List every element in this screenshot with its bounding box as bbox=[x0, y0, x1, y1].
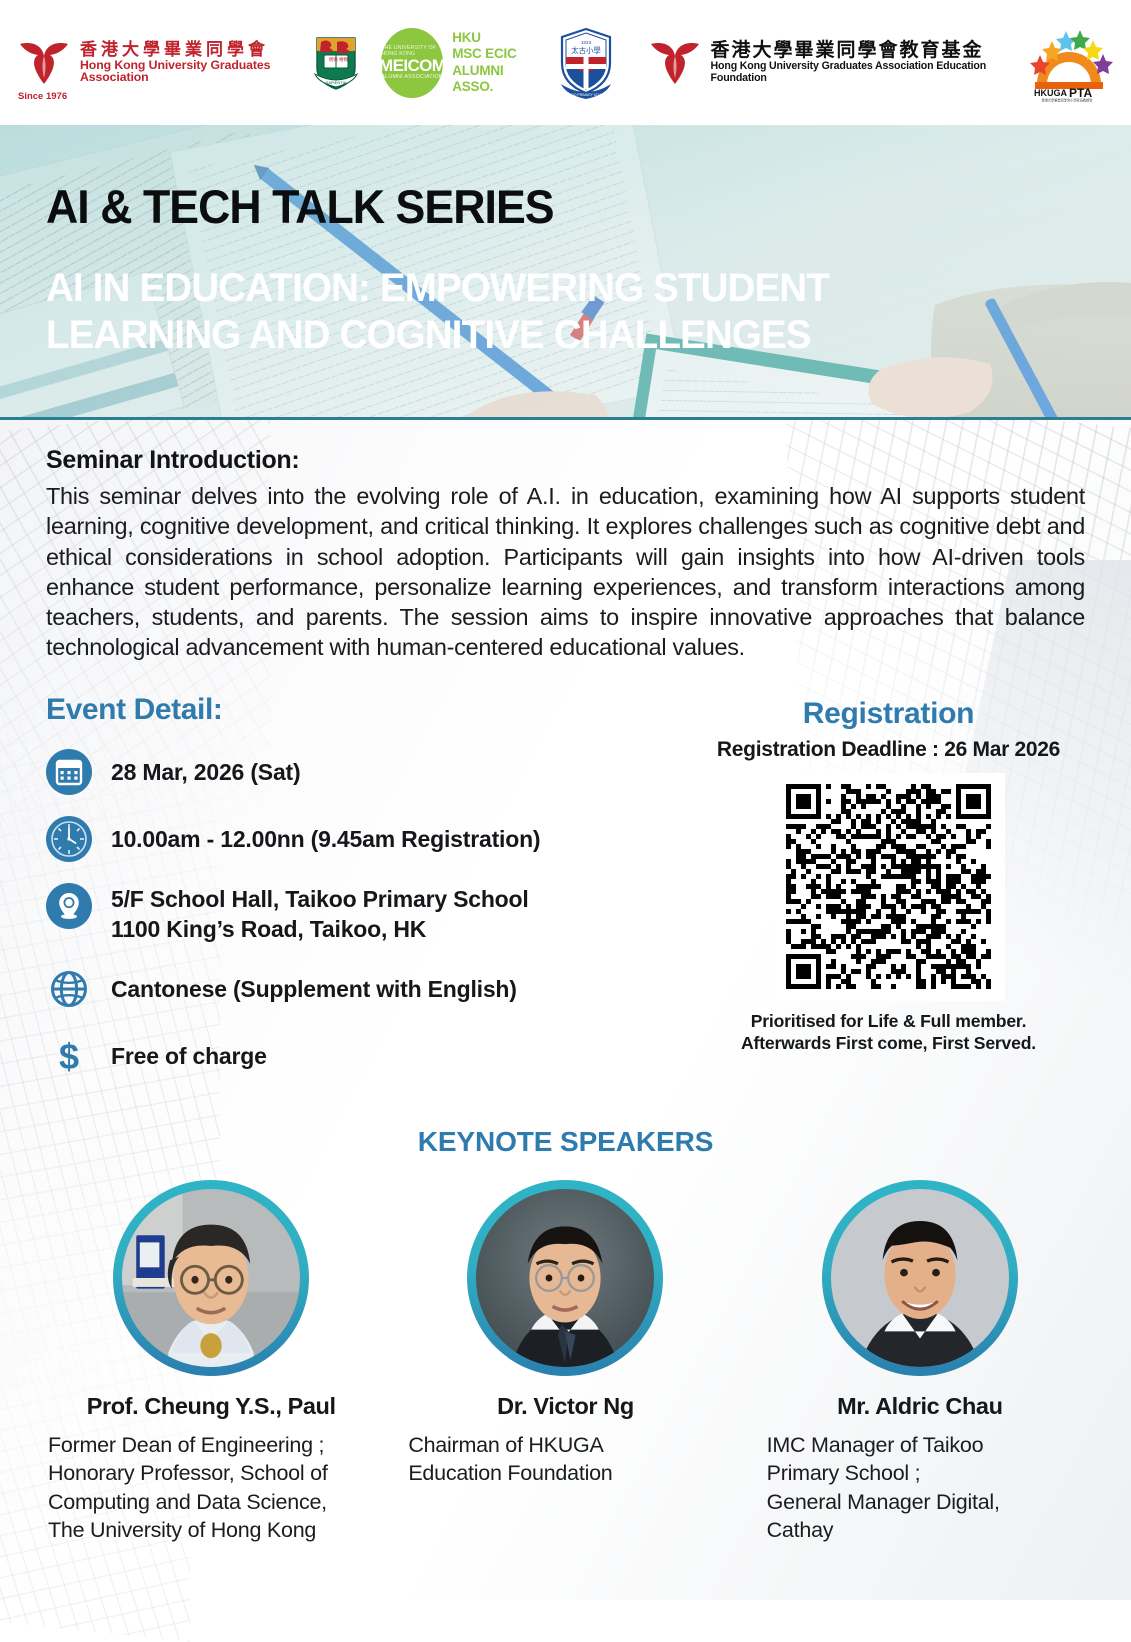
svg-text:格物: 格物 bbox=[339, 56, 348, 63]
speaker-name: Mr. Aldric Chau bbox=[757, 1393, 1083, 1420]
avatar bbox=[467, 1180, 663, 1376]
registration-note-line-2: Afterwards First come, First Served. bbox=[686, 1032, 1091, 1054]
event-venue-line-1: 5/F School Hall, Taikoo Primary School bbox=[111, 886, 529, 912]
keynote-speakers-list: Prof. Cheung Y.S., Paul Former Dean of E… bbox=[0, 1180, 1131, 1545]
meicom-circle-mark: THE UNIVERSITY OF HONG KONG MEICOM ALUMN… bbox=[381, 28, 443, 98]
hku-crest-icon: 明德 格物 SAPIENTIA bbox=[313, 34, 359, 92]
event-fee-text: Free of charge bbox=[111, 1033, 267, 1072]
seminar-introduction-title: Seminar Introduction: bbox=[46, 446, 1085, 475]
svg-text:明德: 明德 bbox=[329, 56, 338, 63]
clock-icon bbox=[46, 816, 92, 862]
location-pin-icon bbox=[46, 883, 92, 929]
event-detail-list: 28 Mar, 2026 (Sat) bbox=[46, 749, 686, 1079]
meicom-circle-top: THE UNIVERSITY OF HONG KONG bbox=[381, 45, 443, 57]
speaker-role: Former Dean of Engineering ;Honorary Pro… bbox=[48, 1431, 374, 1545]
pta-mark-sub: 香港大學畢業同學會小學家長教師會 bbox=[1041, 97, 1093, 102]
event-detail-row-language: Cantonese (Supplement with English) bbox=[46, 966, 686, 1012]
registration-note-line-1: Prioritised for Life & Full member. bbox=[686, 1010, 1091, 1032]
event-language-text: Cantonese (Supplement with English) bbox=[111, 966, 517, 1005]
speaker-card: Mr. Aldric Chau IMC Manager of TaikooPri… bbox=[743, 1180, 1097, 1545]
hku-crest-logo: 明德 格物 SAPIENTIA bbox=[313, 34, 359, 92]
qr-code-canvas[interactable] bbox=[773, 773, 1005, 1001]
svg-text:1923: 1923 bbox=[580, 40, 591, 45]
registration-heading: Registration bbox=[686, 697, 1091, 731]
hero-subtitle-line-2: LEARNING AND COGNITIVE CHALLENGES bbox=[46, 312, 1049, 359]
hkugaef-name-en: Hong Kong University Graduates Associati… bbox=[711, 61, 995, 84]
speaker-name: Prof. Cheung Y.S., Paul bbox=[48, 1393, 374, 1420]
hero-subtitle: AI IN EDUCATION: EMPOWERING STUDENT LEAR… bbox=[46, 265, 1049, 359]
dollar-icon: $ bbox=[46, 1033, 92, 1079]
hkuga-name-cn: 香港大學畢業同學會 bbox=[80, 41, 301, 59]
hero-series-title: AI & TECH TALK SERIES bbox=[46, 179, 554, 234]
calendar-icon bbox=[46, 749, 92, 795]
partner-logo-bar: Since 1976 香港大學畢業同學會 Hong Kong Universit… bbox=[0, 0, 1131, 125]
seminar-introduction-section: Seminar Introduction: This seminar delve… bbox=[0, 420, 1131, 663]
event-time-text: 10.00am - 12.00nn (9.45am Registration) bbox=[111, 816, 540, 855]
event-venue-text: 5/F School Hall, Taikoo Primary School 1… bbox=[111, 883, 529, 945]
speaker-role: IMC Manager of TaikooPrimary School ;Gen… bbox=[757, 1431, 1083, 1545]
hkuga-wing-icon: Since 1976 bbox=[18, 40, 70, 86]
hero-banner: AI & TECH TALK SERIES AI IN EDUCATION: E… bbox=[0, 125, 1131, 420]
speaker-photo-3 bbox=[831, 1189, 1009, 1367]
pta-mark-hkuga: HKUGA bbox=[1034, 88, 1067, 98]
event-detail-heading: Event Detail: bbox=[46, 693, 686, 727]
event-detail-row-venue: 5/F School Hall, Taikoo Primary School 1… bbox=[46, 883, 686, 945]
avatar bbox=[113, 1180, 309, 1376]
registration-qr-code[interactable] bbox=[773, 773, 1005, 1001]
hkugaef-name-cn: 香港大學畢業同學會教育基金 bbox=[711, 40, 995, 61]
hkuga-education-foundation-logo: 香港大學畢業同學會教育基金 Hong Kong University Gradu… bbox=[649, 40, 995, 86]
hkuga-since-label: Since 1976 bbox=[18, 91, 67, 102]
seminar-introduction-body: This seminar delves into the evolving ro… bbox=[46, 481, 1085, 663]
speaker-photo-1 bbox=[122, 1189, 300, 1367]
event-date-text: 28 Mar, 2026 (Sat) bbox=[111, 749, 300, 788]
svg-text:$: $ bbox=[59, 1036, 79, 1077]
event-detail-row-time: 10.00am - 12.00nn (9.45am Registration) bbox=[46, 816, 686, 862]
tps-ribbon-text: TAIKOO PRIMARY SCHOOL bbox=[564, 93, 608, 97]
meicom-line-3: ALUMNI ASSO. bbox=[452, 63, 526, 96]
hkugaef-wing-icon bbox=[649, 40, 701, 86]
registration-deadline: Registration Deadline : 26 Mar 2026 bbox=[686, 738, 1091, 762]
poster-content: Seminar Introduction: This seminar delve… bbox=[0, 420, 1131, 1545]
meicom-logo: THE UNIVERSITY OF HONG KONG MEICOM ALUMN… bbox=[381, 28, 526, 98]
speaker-photo-2 bbox=[476, 1189, 654, 1367]
speaker-card: Prof. Cheung Y.S., Paul Former Dean of E… bbox=[34, 1180, 388, 1545]
meicom-line-1: HKU bbox=[452, 30, 526, 46]
meicom-line-2: MSC ECIC bbox=[452, 46, 526, 62]
event-venue-line-2: 1100 King’s Road, Taikoo, HK bbox=[111, 916, 426, 942]
meicom-circle-main: MEICOM bbox=[379, 57, 445, 74]
speaker-role: Chairman of HKUGAEducation Foundation bbox=[402, 1431, 728, 1488]
registration-note: Prioritised for Life & Full member. Afte… bbox=[686, 1010, 1091, 1055]
event-detail-row-date: 28 Mar, 2026 (Sat) bbox=[46, 749, 686, 795]
hero-subtitle-line-1: AI IN EDUCATION: EMPOWERING STUDENT bbox=[46, 265, 1049, 312]
event-detail-section: Event Detail: 28 bbox=[46, 693, 686, 1100]
taikoo-primary-school-logo: 1923 太古小學 TAIKOO PRIMARY SCHOOL bbox=[557, 27, 615, 99]
hkuga-logo: Since 1976 香港大學畢業同學會 Hong Kong Universit… bbox=[18, 40, 301, 86]
svg-text:太古小學: 太古小學 bbox=[571, 46, 601, 55]
event-detail-row-fee: $ Free of charge bbox=[46, 1033, 686, 1079]
avatar bbox=[822, 1180, 1018, 1376]
hkuga-name-en: Hong Kong University Graduates Associati… bbox=[80, 59, 301, 85]
speaker-name: Dr. Victor Ng bbox=[402, 1393, 728, 1420]
registration-section: Registration Registration Deadline : 26 … bbox=[686, 693, 1091, 1100]
globe-icon bbox=[46, 966, 92, 1012]
svg-text:SAPIENTIA: SAPIENTIA bbox=[326, 80, 347, 85]
keynote-speakers-heading: KEYNOTE SPEAKERS bbox=[0, 1126, 1131, 1158]
hkuga-pta-logo: HKUGA PTA 香港大學畢業同學會小學家長教師會 bbox=[1021, 22, 1117, 104]
speaker-card: Dr. Victor Ng Chairman of HKUGAEducation… bbox=[388, 1180, 742, 1488]
details-and-registration: Event Detail: 28 bbox=[0, 693, 1131, 1100]
meicom-circle-bottom: ALUMNI ASSOCIATION bbox=[381, 74, 443, 80]
